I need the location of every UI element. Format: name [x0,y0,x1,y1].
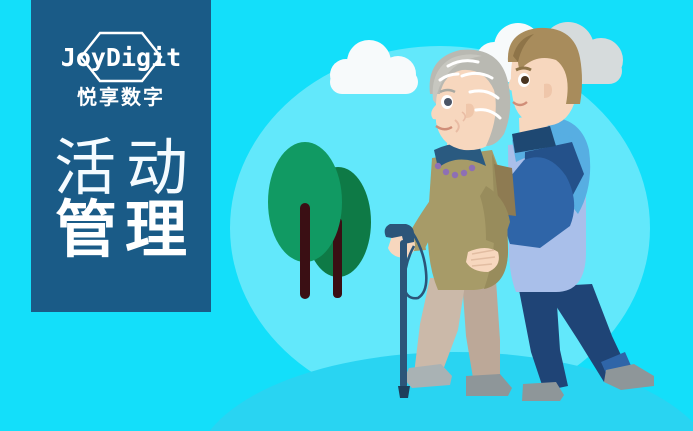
page-title-line-2: 管理 [31,198,211,263]
cane-tip [398,386,410,398]
logo-subtitle-cn: 悦享数字 [31,87,211,109]
woman-head [430,50,511,151]
man-back-shoe [522,382,564,401]
logo-wordmark: JoyDigit [51,30,191,84]
poster-canvas: JoyDigit 悦享数字 活动 管理 [0,0,693,431]
logo-mark: JoyDigit [51,30,191,84]
logo-block: JoyDigit 悦享数字 [31,30,211,109]
man-pupil [521,76,529,84]
page-title-line-1: 活动 [31,137,211,200]
woman-pupil [444,98,452,106]
page-title: 活动 管理 [31,137,211,263]
brand-panel: JoyDigit 悦享数字 活动 管理 [31,0,211,312]
